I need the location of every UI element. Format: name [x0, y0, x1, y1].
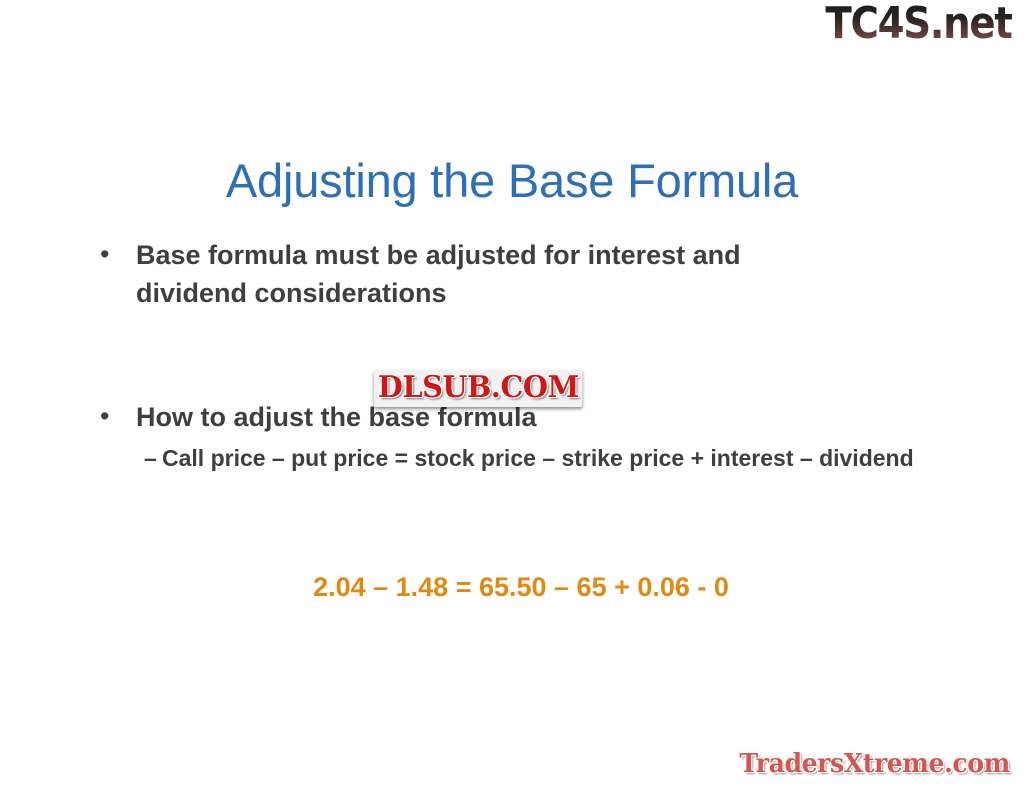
slide-body: • Base formula must be adjusted for inte… — [96, 236, 936, 475]
sub-list-item: – Call price – put price = stock price –… — [144, 442, 936, 475]
sub-bullet-text-put-call-parity: Call price – put price = stock price – s… — [162, 442, 932, 475]
tradersxtreme-com-watermark: TradersXtreme.com — [740, 749, 1010, 779]
bullet-dot-icon: • — [96, 236, 136, 272]
bullet-text-interest-dividend: Base formula must be adjusted for intere… — [136, 236, 848, 312]
presentation-slide: TC4S.net Adjusting the Base Formula • Ba… — [0, 0, 1024, 791]
bullet-dot-icon: • — [96, 398, 136, 434]
page-title: Adjusting the Base Formula — [0, 155, 1024, 207]
list-item: • Base formula must be adjusted for inte… — [96, 236, 936, 312]
dlsub-com-watermark: DLSUB.COM — [374, 370, 583, 407]
tc4s-net-watermark: TC4S.net — [826, 2, 1012, 46]
formula-example-values: 2.04 – 1.48 = 65.50 – 65 + 0.06 - 0 — [0, 570, 1024, 604]
dash-bullet-icon: – — [144, 442, 162, 475]
